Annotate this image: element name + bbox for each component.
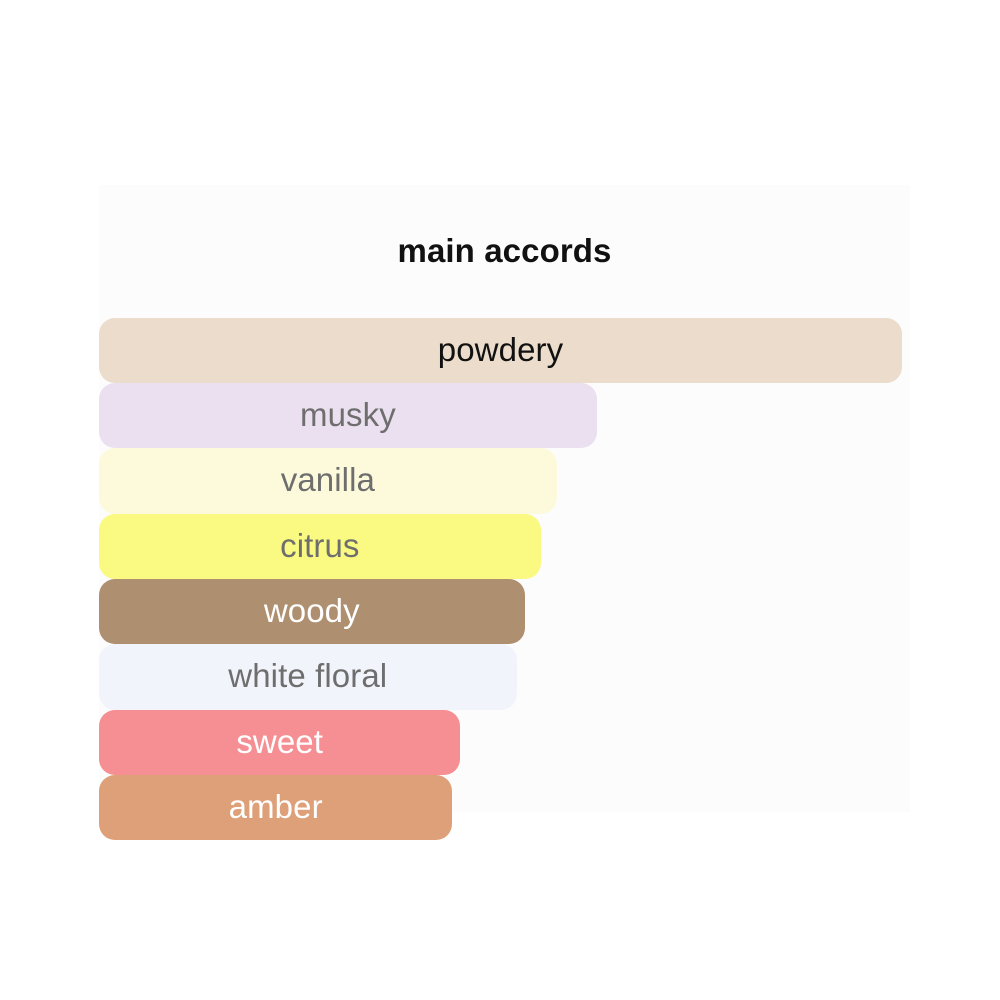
accord-row: sweet xyxy=(99,710,902,775)
accord-bar[interactable]: citrus xyxy=(99,514,541,579)
accord-row: vanilla xyxy=(99,448,902,513)
accord-label: white floral xyxy=(228,659,387,694)
accord-row: musky xyxy=(99,383,902,448)
accord-bar[interactable]: white floral xyxy=(99,644,517,709)
accord-label: citrus xyxy=(280,529,359,564)
accord-label: sweet xyxy=(236,725,323,760)
accord-bar[interactable]: woody xyxy=(99,579,525,644)
accord-label: powdery xyxy=(438,333,563,368)
accord-bar[interactable]: sweet xyxy=(99,710,460,775)
page-root: main accords powderymuskyvanillacitruswo… xyxy=(0,0,1000,1000)
accord-row: amber xyxy=(99,775,902,840)
accord-label: vanilla xyxy=(281,463,375,498)
accord-label: amber xyxy=(229,790,323,825)
accord-row: woody xyxy=(99,579,902,644)
accord-row: powdery xyxy=(99,318,902,383)
main-accords-panel: main accords powderymuskyvanillacitruswo… xyxy=(99,185,910,812)
accord-bar[interactable]: amber xyxy=(99,775,452,840)
accords-bar-chart: powderymuskyvanillacitruswoodywhite flor… xyxy=(99,318,902,840)
accord-bar[interactable]: vanilla xyxy=(99,448,557,513)
page-title: main accords xyxy=(99,212,910,290)
accord-bar[interactable]: musky xyxy=(99,383,597,448)
accord-row: citrus xyxy=(99,514,902,579)
accord-row: white floral xyxy=(99,644,902,709)
accord-label: musky xyxy=(300,398,396,433)
accord-label: woody xyxy=(264,594,360,629)
accord-bar[interactable]: powdery xyxy=(99,318,902,383)
